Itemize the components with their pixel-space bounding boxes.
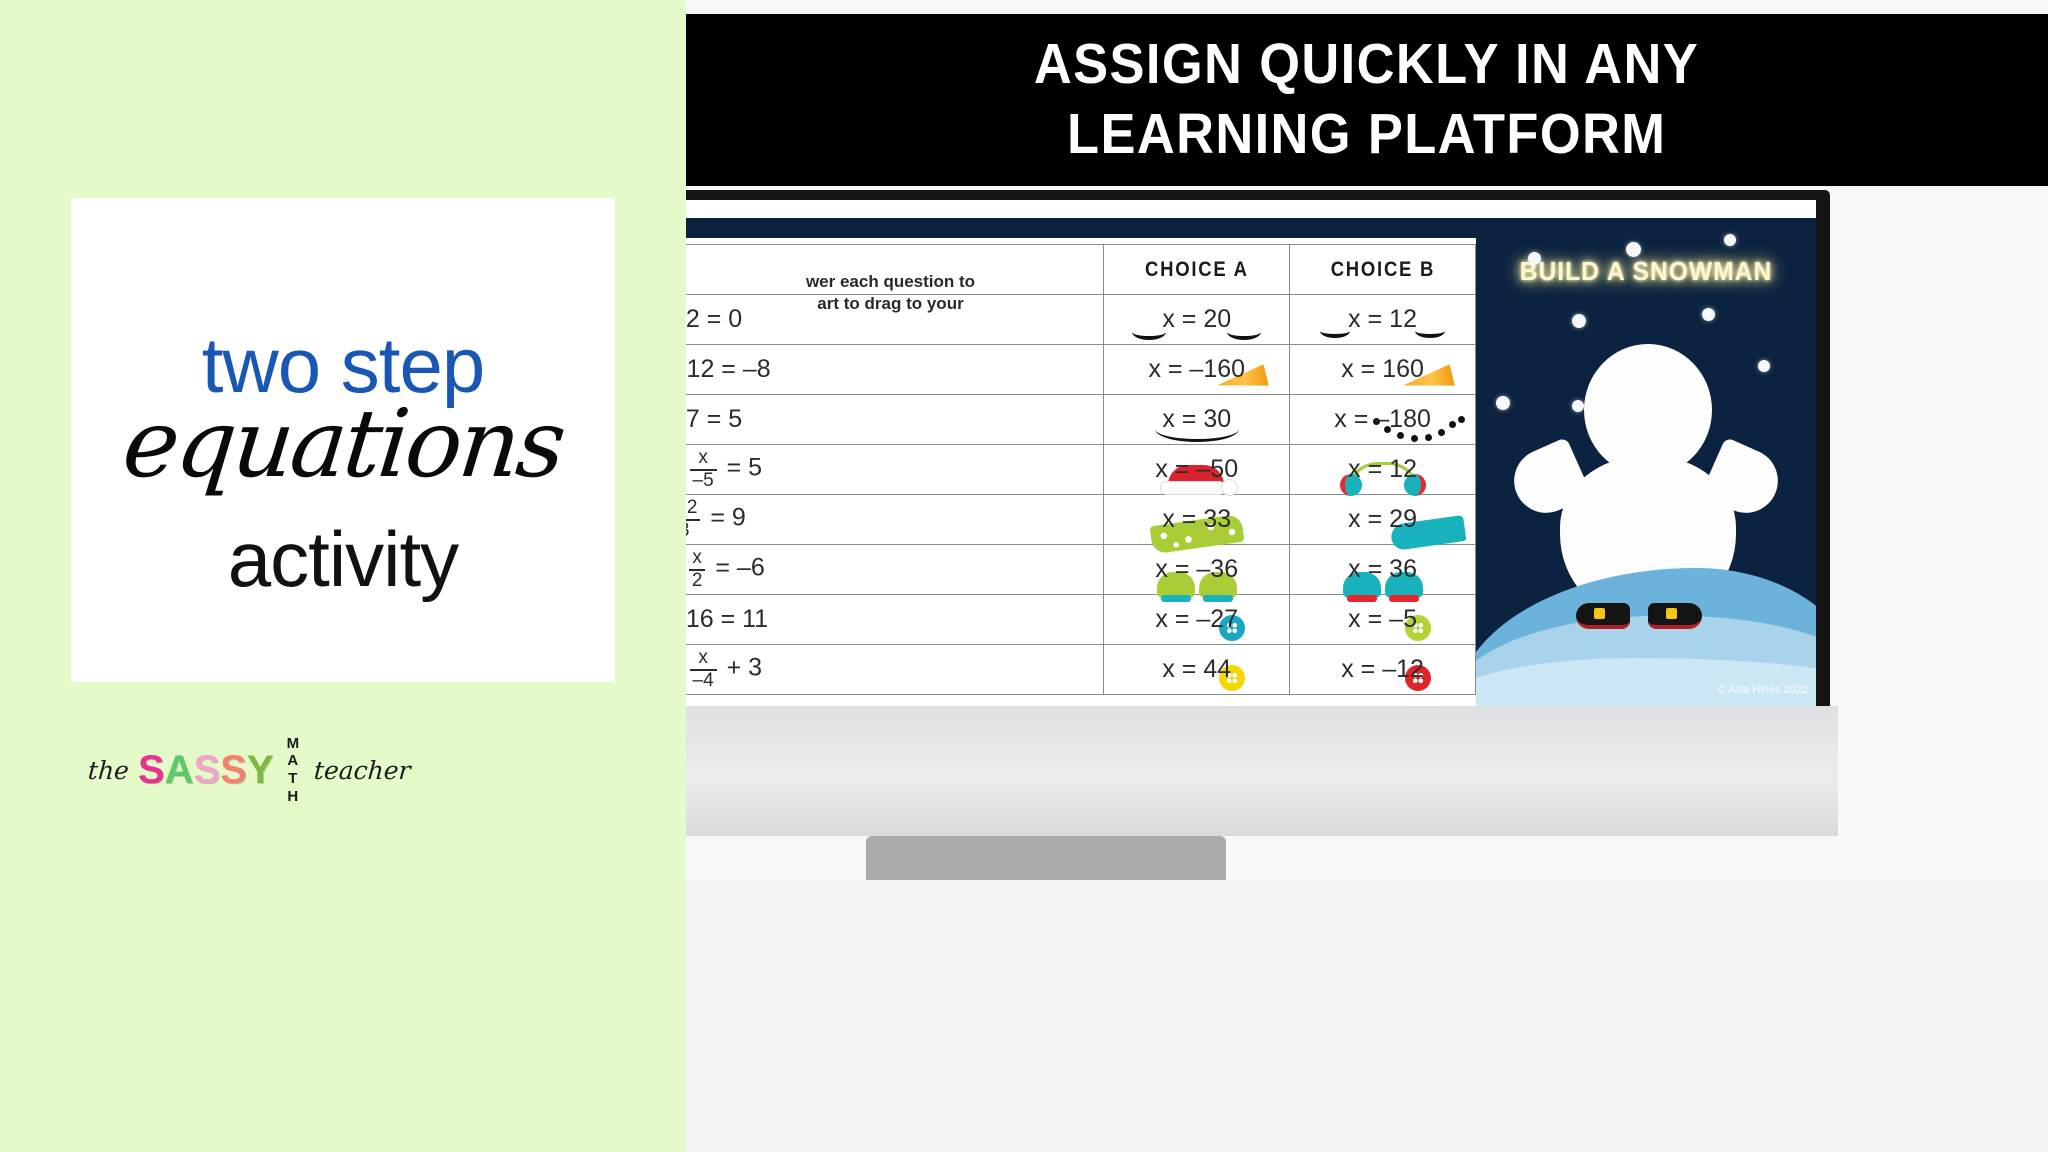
logo-letter-s: S — [220, 748, 247, 793]
choice-b-cell[interactable]: x = 36 — [1290, 545, 1476, 595]
logo-word-teacher: teacher — [313, 756, 412, 785]
logo-letter-t: T — [288, 770, 297, 788]
choice-a-cell[interactable]: x = –160 — [1104, 345, 1290, 395]
fraction: x–4 — [690, 648, 717, 690]
monitor-screen: wer each question toart to drag to your … — [686, 200, 1816, 708]
logo-word-math: MATH — [287, 735, 300, 806]
banner-line-1: ASSIGN QUICKLY IN ANY — [1034, 30, 1699, 100]
title-card: two step equations activity — [71, 198, 615, 682]
eyes-icon — [1227, 324, 1261, 340]
logo-letter-h: H — [287, 788, 298, 806]
choice-a-cell[interactable]: x = 33 — [1104, 495, 1290, 545]
choice-a-value: x = –27 — [1155, 605, 1238, 633]
snowflake-icon — [1724, 234, 1736, 246]
choice-b-value: x = 12 — [1348, 305, 1417, 333]
logo-word-the: the — [87, 756, 130, 785]
choice-b-cell[interactable]: x = –5 — [1290, 595, 1476, 645]
equation-cell: – 23 = 9 — [686, 495, 1104, 545]
eyes-icon — [1415, 324, 1445, 338]
logo-word-sassy: SASSY — [138, 748, 274, 793]
choice-b-cell[interactable]: x = 12 — [1290, 445, 1476, 495]
logo-letter-a: A — [287, 752, 298, 770]
fraction-numerator: x — [689, 548, 706, 568]
fraction-numerator: – 2 — [686, 498, 700, 518]
choice-a-cell[interactable]: x = 20 — [1104, 295, 1290, 345]
fraction-numerator: x — [690, 648, 717, 668]
fraction: – 23 — [686, 498, 700, 540]
choice-b-cell[interactable]: x = –180 — [1290, 395, 1476, 445]
copyright-text: © Asia Hines 2022 — [1717, 684, 1808, 696]
worksheet-table: wer each question toart to drag to your … — [686, 244, 1476, 695]
snowflake-icon — [1626, 242, 1641, 257]
logo-letter-m: M — [287, 735, 300, 753]
equation-cell: – 7 = 5 — [686, 395, 1104, 445]
equation-cell: = x–4 + 3 — [686, 645, 1104, 695]
choice-a-value: x = 44 — [1162, 655, 1231, 683]
equation-text: – 7 = 5 — [686, 405, 742, 433]
table-row: – 7 = 5 x = 30 x = –180 — [686, 395, 1476, 445]
fraction-denominator: 3 — [686, 519, 700, 541]
equation-text: – 16 = 11 — [686, 605, 768, 633]
choice-a-cell[interactable]: x = –36 — [1104, 545, 1290, 595]
choice-a-value: x = –160 — [1148, 355, 1245, 383]
promo-banner: ASSIGN QUICKLY IN ANY LEARNING PLATFORM — [686, 14, 2048, 186]
choice-a-cell[interactable]: x = –27 — [1104, 595, 1290, 645]
equation-tail: = 5 — [720, 454, 762, 482]
fraction-denominator: –5 — [690, 469, 717, 491]
title-line-activity: activity — [71, 520, 615, 598]
table-header-row: wer each question toart to drag to your … — [686, 245, 1476, 295]
choice-b-value: x = 36 — [1348, 555, 1417, 583]
table-row: – 16 = 11 x = –27 x = –5 — [686, 595, 1476, 645]
left-panel: two step equations activity the SASSY MA… — [0, 0, 686, 1152]
right-panel: ASSIGN QUICKLY IN ANY LEARNING PLATFORM … — [686, 0, 2048, 1152]
boot-buckle-icon — [1594, 608, 1605, 619]
worksheet-instructions: wer each question toart to drag to your — [686, 271, 1103, 317]
choice-a-cell[interactable]: x = –50 — [1104, 445, 1290, 495]
table-row: + 12 = –8 x = –160 x = 160 — [686, 345, 1476, 395]
fraction: x2 — [689, 548, 706, 590]
choice-a-value: x = –36 — [1155, 555, 1238, 583]
snowflake-icon — [1496, 396, 1510, 410]
table-row: = x–4 + 3 x = 44 x = –12 — [686, 645, 1476, 695]
choice-a-cell[interactable]: x = 44 — [1104, 645, 1290, 695]
equation-text: + — [686, 454, 687, 482]
logo-letter-s: S — [194, 748, 221, 793]
eyes-icon — [1320, 324, 1350, 338]
choice-b-cell[interactable]: x = 12 — [1290, 295, 1476, 345]
equation-cell: – 16 = 11 — [686, 595, 1104, 645]
snowflake-icon — [1572, 314, 1586, 328]
choice-a-value: x = 33 — [1162, 505, 1231, 533]
equation-text: = — [686, 654, 687, 682]
snow-ground-layer-3 — [1476, 658, 1816, 708]
header-instructions: wer each question toart to drag to your — [686, 245, 1104, 295]
brand-logo: the SASSY MATH teacher — [88, 735, 411, 805]
snowflake-icon — [1528, 252, 1541, 265]
title-stack: two step equations activity — [71, 198, 615, 682]
equation-text: + 12 = –8 — [686, 355, 771, 383]
choice-b-value: x = –180 — [1334, 405, 1431, 433]
choice-b-value: x = –12 — [1341, 655, 1424, 683]
snowflake-icon — [1572, 400, 1584, 412]
choice-a-value: x = –50 — [1155, 455, 1238, 483]
choice-a-cell[interactable]: x = 30 — [1104, 395, 1290, 445]
equation-tail: + 3 — [720, 654, 762, 682]
title-line-equations: equations — [66, 398, 620, 492]
worksheet-topbar — [686, 218, 1476, 238]
fraction-denominator: 2 — [689, 569, 706, 591]
equation-cell: – x2 = –6 — [686, 545, 1104, 595]
desk-surface — [686, 880, 2048, 1152]
snowflake-icon — [1758, 360, 1770, 372]
table-row: – 23 = 9 x = 33 x = 29 — [686, 495, 1476, 545]
fraction-denominator: –4 — [690, 669, 717, 691]
snowflake-icon — [1702, 308, 1715, 321]
fraction-numerator: x — [690, 448, 717, 468]
fraction: x–5 — [690, 448, 717, 490]
screenshot-root: two step equations activity the SASSY MA… — [0, 0, 2048, 1152]
choice-b-cell[interactable]: x = 160 — [1290, 345, 1476, 395]
choice-b-value: x = 29 — [1348, 505, 1417, 533]
equation-cell: + 12 = –8 — [686, 345, 1104, 395]
choice-a-value: x = 20 — [1162, 305, 1231, 333]
logo-letter-s: S — [138, 748, 165, 793]
instruction-line-2: art to drag to your — [686, 293, 1103, 316]
table-row: – x2 = –6 x = –36 x = 36 — [686, 545, 1476, 595]
banner-line-2: LEARNING PLATFORM — [1067, 100, 1666, 170]
choice-b-cell[interactable]: x = –12 — [1290, 645, 1476, 695]
worksheet-slide: wer each question toart to drag to your … — [686, 218, 1476, 708]
equation-tail: = –6 — [708, 554, 764, 582]
boot-buckle-icon — [1666, 608, 1677, 619]
instruction-line-1: wer each question to — [686, 271, 1103, 294]
header-choice-b: CHOICE B — [1301, 245, 1465, 295]
choice-b-value: x = 12 — [1348, 455, 1417, 483]
header-choice-a: CHOICE A — [1115, 245, 1279, 295]
equation-cell: + x–5 = 5 — [686, 445, 1104, 495]
table-row: + x–5 = 5 x = –50 x = 12 — [686, 445, 1476, 495]
choice-b-value: x = 160 — [1341, 355, 1424, 383]
choice-b-value: x = –5 — [1348, 605, 1417, 633]
equation-tail: = 9 — [703, 504, 745, 532]
choice-b-cell[interactable]: x = 29 — [1290, 495, 1476, 545]
snowman-slide: BUILD A SNOWMAN — [1476, 218, 1816, 708]
choice-a-value: x = 30 — [1162, 405, 1231, 433]
logo-letter-a: A — [165, 748, 194, 793]
logo-letter-y: Y — [247, 748, 274, 793]
monitor-stand — [686, 706, 1838, 836]
